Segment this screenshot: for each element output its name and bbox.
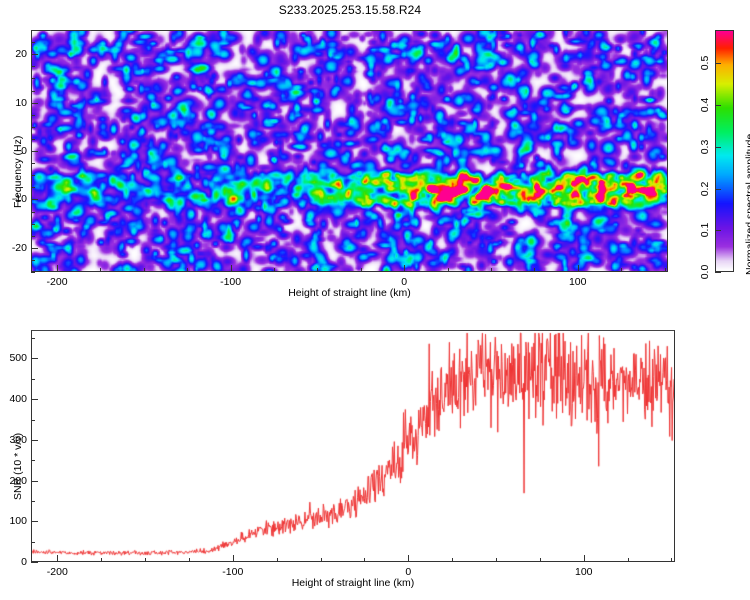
y-minor-tick [31, 338, 35, 339]
spectrogram-y-axis-title: Frequency (Hz) [12, 136, 24, 208]
y-major-tick [31, 199, 38, 200]
x-minor-tick [491, 268, 492, 272]
y-tick-label: 400 [1, 393, 27, 405]
y-minor-tick [31, 236, 35, 237]
y-minor-tick [31, 272, 35, 273]
y-major-tick [31, 54, 38, 55]
y-minor-tick [31, 42, 35, 43]
x-minor-tick [671, 558, 672, 562]
spectrogram-canvas [32, 31, 667, 271]
y-minor-tick [31, 260, 35, 261]
y-minor-tick [31, 30, 35, 31]
spectrogram-plot-area [31, 30, 668, 272]
spectrogram-x-axis-title: Height of straight line (km) [31, 287, 668, 299]
x-minor-tick [621, 268, 622, 272]
x-minor-tick [144, 268, 145, 272]
snr-x-axis-title: Height of straight line (km) [31, 577, 675, 589]
y-major-tick [31, 358, 38, 359]
colorbar-tick-label: 0.4 [699, 98, 711, 113]
x-minor-tick [189, 558, 190, 562]
x-minor-tick [277, 558, 278, 562]
y-tick-label: 10 [1, 97, 27, 109]
y-major-tick [31, 151, 38, 152]
y-minor-tick [31, 78, 35, 79]
x-minor-tick [448, 268, 449, 272]
y-minor-tick [31, 224, 35, 225]
colorbar-tick [715, 63, 721, 64]
colorbar-tick [715, 189, 721, 190]
y-tick-label: -20 [1, 242, 27, 254]
colorbar-tick-label: 0.0 [699, 265, 711, 280]
x-minor-tick [665, 268, 666, 272]
y-major-tick [31, 248, 38, 249]
y-minor-tick [31, 379, 35, 380]
y-minor-tick [31, 420, 35, 421]
x-minor-tick [361, 268, 362, 272]
colorbar-tick [715, 105, 721, 106]
colorbar-tick [715, 230, 721, 231]
y-tick-label: 500 [1, 352, 27, 364]
x-minor-tick [187, 268, 188, 272]
colorbar-title: Normalized spectral amplitude [744, 134, 750, 275]
colorbar-tick-label: 0.5 [699, 56, 711, 71]
y-major-tick [31, 562, 38, 563]
x-minor-tick [496, 558, 497, 562]
x-minor-tick [274, 268, 275, 272]
x-minor-tick [317, 268, 318, 272]
x-major-tick [233, 555, 234, 562]
x-major-tick [57, 265, 58, 272]
figure-root: S233.2025.253.15.58.R24 -200-1000100-20-… [0, 0, 750, 600]
y-minor-tick [31, 212, 35, 213]
colorbar-tick-label: 0.1 [699, 223, 711, 238]
colorbar-tick [715, 147, 721, 148]
x-minor-tick [540, 558, 541, 562]
x-minor-tick [101, 558, 102, 562]
x-major-tick [404, 265, 405, 272]
x-major-tick [584, 555, 585, 562]
page-title: S233.2025.253.15.58.R24 [0, 3, 700, 17]
x-major-tick [408, 555, 409, 562]
snr-y-axis-title: SNR (10 * v/v) [12, 433, 24, 500]
x-minor-tick [364, 558, 365, 562]
y-major-tick [31, 481, 38, 482]
y-minor-tick [31, 163, 35, 164]
colorbar-tick-label: 0.2 [699, 181, 711, 196]
colorbar-tick-label: 0.3 [699, 140, 711, 155]
y-minor-tick [31, 460, 35, 461]
y-tick-label: 100 [1, 515, 27, 527]
colorbar-gradient [716, 31, 733, 271]
x-minor-tick [100, 268, 101, 272]
y-tick-label: 0 [1, 556, 27, 568]
y-major-tick [31, 103, 38, 104]
y-major-tick [31, 521, 38, 522]
y-tick-label: 20 [1, 48, 27, 60]
y-minor-tick [31, 139, 35, 140]
y-minor-tick [31, 501, 35, 502]
y-minor-tick [31, 542, 35, 543]
y-minor-tick [31, 115, 35, 116]
y-minor-tick [31, 187, 35, 188]
y-minor-tick [31, 66, 35, 67]
x-major-tick [231, 265, 232, 272]
snr-canvas [32, 331, 674, 561]
y-minor-tick [31, 127, 35, 128]
snr-plot-area [31, 330, 675, 562]
y-major-tick [31, 440, 38, 441]
x-minor-tick [452, 558, 453, 562]
x-major-tick [57, 555, 58, 562]
x-minor-tick [628, 558, 629, 562]
colorbar-tick [715, 272, 721, 273]
y-minor-tick [31, 91, 35, 92]
y-minor-tick [31, 175, 35, 176]
colorbar [715, 30, 734, 272]
x-minor-tick [321, 558, 322, 562]
x-minor-tick [534, 268, 535, 272]
x-minor-tick [145, 558, 146, 562]
y-major-tick [31, 399, 38, 400]
x-major-tick [578, 265, 579, 272]
